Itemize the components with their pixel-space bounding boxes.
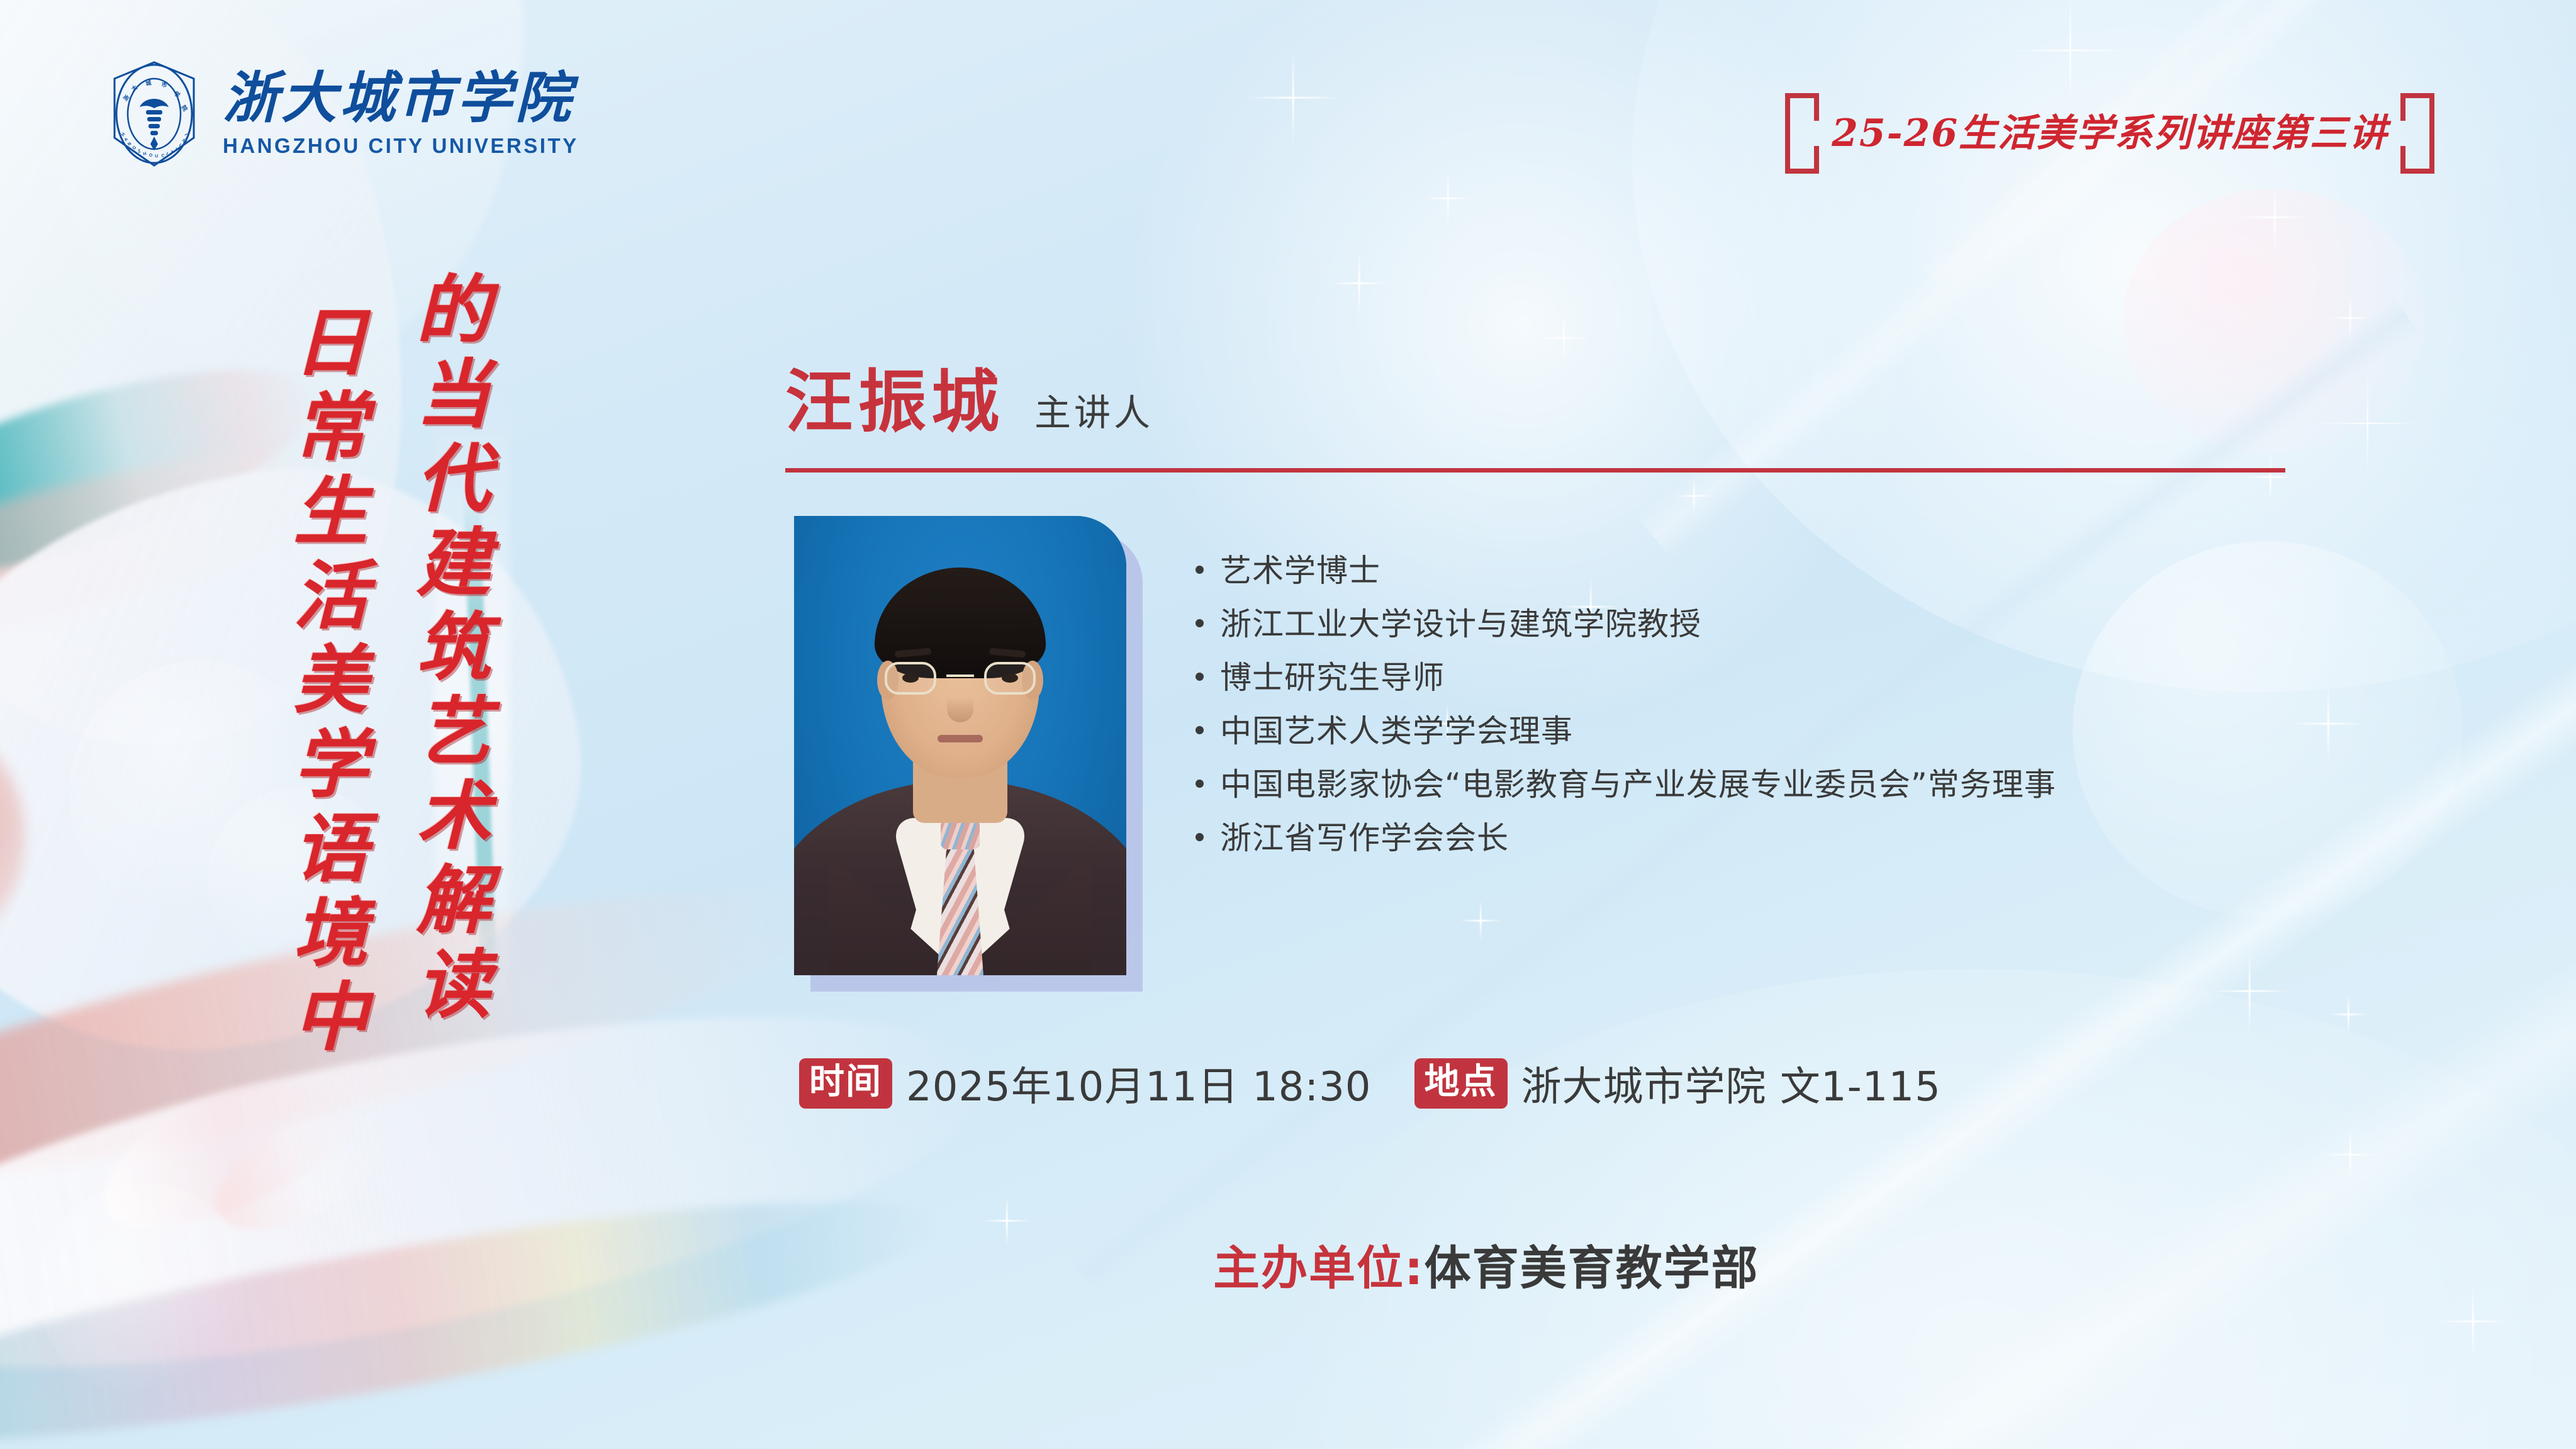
time-value: 2025年10月11日 18:30	[906, 1055, 1372, 1112]
svg-text:大: 大	[130, 84, 139, 93]
section-divider	[785, 468, 2285, 473]
credentials-list: 艺术学博士 浙江工业大学设计与建筑学院教授 博士研究生导师 中国艺术人类学学会理…	[1196, 552, 2056, 857]
credential-text: 中国艺术人类学学会理事	[1220, 713, 1573, 750]
organizer-label: 主办单位:	[1213, 1231, 1425, 1298]
svg-text:Z: Z	[137, 149, 142, 154]
speaker-role-label: 主讲人	[1034, 383, 1153, 436]
sparkle-icon	[2316, 371, 2419, 475]
credential-text: 浙江工业大学设计与建筑学院教授	[1220, 606, 1701, 643]
sparkle-icon	[1675, 477, 1713, 515]
series-banner: 25-26生活美学系列讲座第三讲	[1785, 93, 2434, 174]
bullet-icon	[1196, 726, 1204, 734]
event-time: 时间 2025年10月11日 18:30	[799, 1055, 1372, 1112]
place-value: 浙大城市学院 文1-115	[1521, 1055, 1941, 1112]
bokeh-circle-5	[38, 1183, 252, 1397]
list-item: 中国艺术人类学学会理事	[1196, 713, 2056, 750]
logo-name-en: HANGZHOU CITY UNIVERSITY	[223, 134, 579, 158]
svg-text:U: U	[155, 154, 159, 159]
petal-shape-a	[83, 1049, 371, 1253]
list-item: 中国电影家协会“电影教育与产业发展专业委员会”常务理事	[1196, 766, 2056, 803]
sparkle-icon	[1460, 900, 1501, 941]
bullet-icon	[1196, 619, 1204, 627]
sparkle-icon	[2290, 686, 2366, 761]
list-item: 艺术学博士	[1196, 552, 2056, 590]
series-banner-frame: 25-26生活美学系列讲座第三讲	[1819, 93, 2400, 174]
credential-text: 浙江省写作学会会长	[1220, 820, 1509, 857]
lecture-poster: H A N G Z H O U C I T Y U N I 浙 大 城 市	[0, 0, 2576, 1449]
silk-sweep-4	[1636, 0, 2540, 559]
poster-title: 的当代建筑艺术解读 日常生活美学语境中	[277, 271, 495, 1062]
sparkle-icon	[2013, 0, 2127, 107]
list-item: 博士研究生导师	[1196, 659, 2056, 697]
bullet-icon	[1196, 673, 1204, 681]
sparkle-icon	[1421, 171, 1475, 225]
sparkle-icon	[2328, 296, 2372, 340]
series-banner-text: 25-26生活美学系列讲座第三讲	[1819, 93, 2400, 174]
credential-text: 艺术学博士	[1220, 552, 1380, 590]
sparkle-icon	[1246, 50, 1340, 145]
sparkle-icon	[1328, 252, 1391, 315]
svg-text:H: H	[121, 132, 126, 137]
time-badge: 时间	[799, 1058, 892, 1109]
sparkle-icon	[2209, 950, 2290, 1032]
sparkle-icon	[982, 1195, 1032, 1246]
pearl-ribbon-lower	[0, 946, 1009, 1440]
sparkle-icon	[2322, 1126, 2378, 1183]
credential-text: 中国电影家协会“电影教育与产业发展专业委员会”常务理事	[1220, 766, 2056, 803]
university-seal-icon: H A N G Z H O U C I T Y U N I 浙 大 城 市	[107, 60, 201, 168]
title-column-right: 的当代建筑艺术解读	[400, 271, 495, 1062]
bokeh-circle-1	[2123, 189, 2425, 453]
speaker-portrait	[794, 516, 1126, 975]
speaker-header: 汪振城 主讲人	[785, 347, 1153, 445]
glow-bottom-right	[1221, 969, 2576, 1449]
list-item: 浙江省写作学会会长	[1196, 820, 2056, 857]
bullet-icon	[1196, 566, 1204, 574]
event-details: 时间 2025年10月11日 18:30 地点 浙大城市学院 文1-115	[799, 1055, 1941, 1112]
pink-blob-left	[0, 705, 25, 969]
bullet-icon	[1196, 833, 1204, 841]
svg-text:A: A	[124, 137, 130, 143]
sparkle-icon	[2328, 994, 2368, 1034]
sparkle-icon	[2240, 182, 2309, 252]
bokeh-circle-2	[2073, 541, 2463, 919]
event-place: 地点 浙大城市学院 文1-115	[1414, 1055, 1941, 1112]
university-logo: H A N G Z H O U C I T Y U N I 浙 大 城 市	[107, 60, 579, 168]
svg-text:H: H	[143, 152, 147, 157]
organizer-value: 体育美育教学部	[1425, 1231, 1759, 1298]
list-item: 浙江工业大学设计与建筑学院教授	[1196, 606, 2056, 643]
iridescent-ribbon-bottom	[0, 1155, 947, 1449]
title-column-left: 日常生活美学语境中	[277, 303, 372, 1062]
place-badge: 地点	[1414, 1058, 1508, 1109]
bullet-icon	[1196, 780, 1204, 788]
organizer-row: 主办单位: 体育美育教学部	[1213, 1231, 1759, 1298]
speaker-name: 汪振城	[785, 347, 1004, 445]
sparkle-icon	[2435, 1284, 2511, 1359]
credential-text: 博士研究生导师	[1220, 659, 1445, 697]
svg-text:O: O	[149, 154, 153, 158]
bracket-left-icon	[1785, 93, 1819, 174]
bracket-right-icon	[2400, 93, 2434, 174]
petal-shape-b	[198, 1087, 406, 1253]
sparkle-icon	[2246, 453, 2294, 501]
logo-name-cn: 浙大城市学院	[223, 70, 579, 125]
sparkle-icon	[1540, 315, 1587, 361]
